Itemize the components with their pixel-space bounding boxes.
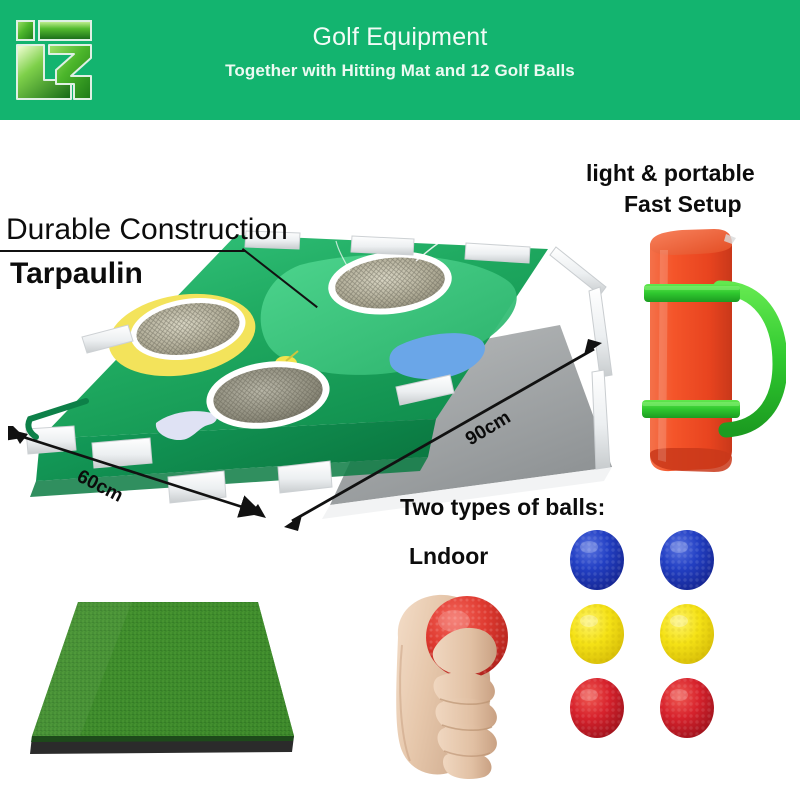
callout-underline — [0, 250, 246, 252]
callout-indoor: Lndoor — [409, 543, 488, 570]
hand-squeezing-foam-ball — [392, 585, 542, 781]
header-title-block: Golf Equipment Together with Hitting Mat… — [120, 24, 680, 81]
orange-carry-bag — [634, 222, 786, 482]
page-title: Golf Equipment — [120, 24, 680, 52]
golf-ball-blue-2 — [658, 529, 716, 591]
golf-ball-yellow-1 — [568, 603, 626, 665]
callout-durable-construction: Durable Construction — [6, 213, 288, 247]
golf-ball-color-grid — [560, 529, 740, 745]
header-banner: Golf Equipment Together with Hitting Mat… — [0, 0, 800, 120]
callout-tarpaulin: Tarpaulin — [10, 257, 143, 291]
callout-two-types-of-balls: Two types of balls: — [400, 494, 605, 521]
dimension-arrow-width — [8, 426, 270, 522]
lz-brand-logo-icon — [14, 18, 94, 102]
golf-ball-red-2 — [658, 677, 716, 739]
golf-ball-yellow-2 — [658, 603, 716, 665]
golf-ball-blue-1 — [568, 529, 626, 591]
callout-fast-setup: Fast Setup — [624, 191, 742, 218]
callout-light-portable: light & portable — [586, 160, 755, 187]
product-infographic: Golf Equipment Together with Hitting Mat… — [0, 0, 800, 800]
golf-ball-red-1 — [568, 677, 626, 739]
page-subtitle: Together with Hitting Mat and 12 Golf Ba… — [120, 61, 680, 81]
green-hitting-mat — [22, 596, 304, 764]
